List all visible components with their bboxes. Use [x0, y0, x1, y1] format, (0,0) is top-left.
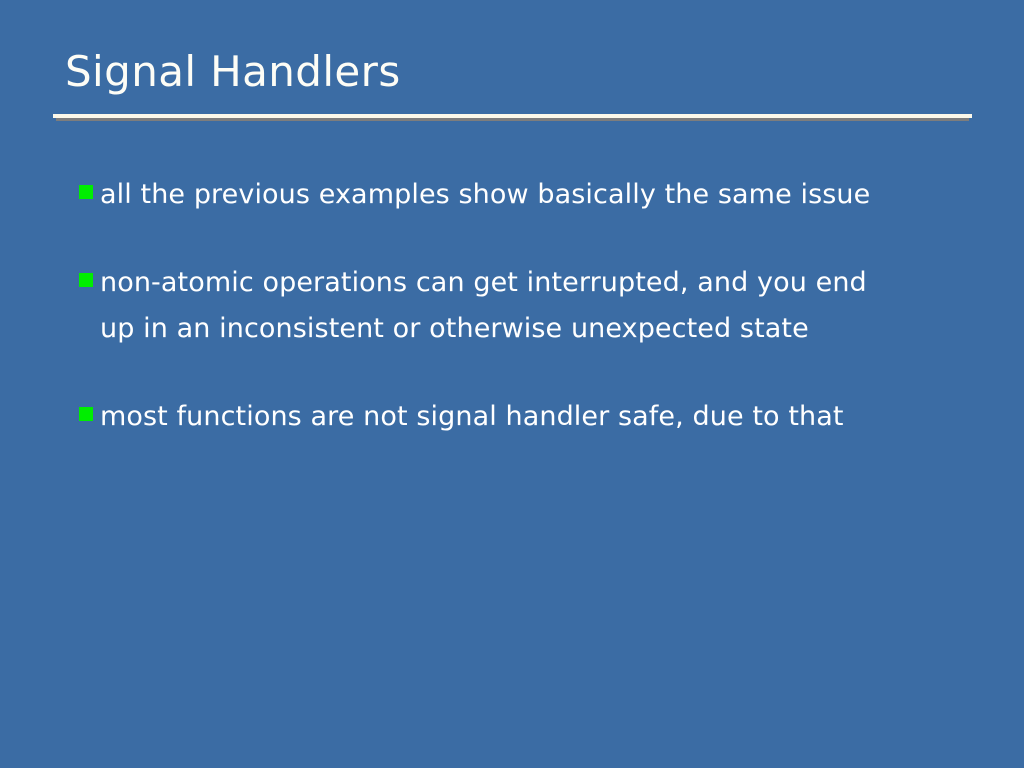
- square-bullet-icon: [79, 273, 93, 287]
- title-divider-shadow: [56, 118, 969, 121]
- list-item-label: most functions are not signal handler sa…: [100, 394, 909, 440]
- list-item: all the previous examples show basically…: [79, 172, 909, 218]
- title-divider: [53, 114, 972, 120]
- square-bullet-icon: [79, 185, 93, 199]
- square-bullet-icon: [79, 407, 93, 421]
- bullet-list: all the previous examples show basically…: [79, 172, 909, 440]
- list-item-label: non-atomic operations can get interrupte…: [100, 260, 909, 352]
- slide-title-block: Signal Handlers: [53, 46, 973, 98]
- page-title: Signal Handlers: [53, 46, 973, 98]
- list-item: non-atomic operations can get interrupte…: [79, 260, 909, 352]
- list-item-label: all the previous examples show basically…: [100, 172, 909, 218]
- list-item: most functions are not signal handler sa…: [79, 394, 909, 440]
- presentation-slide: Signal Handlers all the previous example…: [0, 0, 1024, 768]
